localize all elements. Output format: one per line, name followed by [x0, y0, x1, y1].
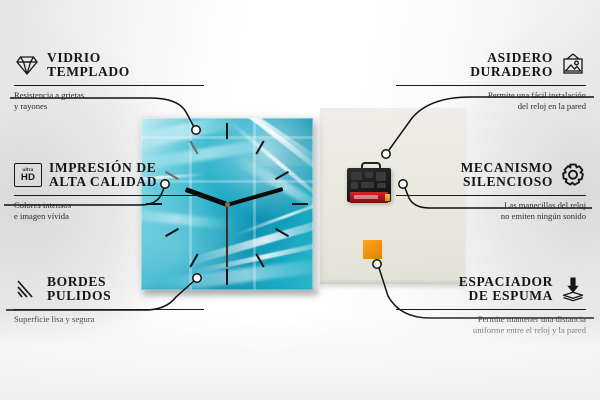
feature-title: BORDES PULIDOS [47, 275, 111, 304]
feature-desc-line1: Permite mantener una distancia [396, 314, 586, 325]
feature-desc-line1: Superficie lisa y segura [14, 314, 204, 325]
second-hand [226, 205, 228, 267]
feature-desc-line2: y rayones [14, 101, 204, 112]
feature-divider [14, 309, 204, 310]
gear-icon [560, 162, 586, 188]
feature-asidero-duradero: ASIDERO DURADERO Permite una fácil insta… [396, 48, 586, 112]
infographic-canvas: VIDRIO TEMPLADO Resistencia a grietas y … [0, 0, 600, 400]
feature-desc-line1: Resistencia a grietas [14, 90, 204, 101]
mechanism-body [347, 168, 391, 202]
feature-espaciador-de-espuma: ESPACIADOR DE ESPUMA Permite mantener un… [396, 272, 586, 336]
feature-header: ASIDERO DURADERO [396, 48, 586, 82]
feature-desc-line2: e imagen vívida [14, 211, 204, 222]
feature-desc-line1: Colores intensos [14, 200, 204, 211]
feature-title: MECANISMO SILENCIOSO [461, 161, 553, 190]
diamond-icon [14, 52, 40, 78]
feature-desc-line1: Permite una fácil instalación [396, 90, 586, 101]
feature-title: ASIDERO DURADERO [470, 51, 553, 80]
feature-desc-line2: del reloj en la pared [396, 101, 586, 112]
feature-divider [396, 85, 586, 86]
feature-divider [14, 195, 204, 196]
feature-header: MECANISMO SILENCIOSO [396, 158, 586, 192]
feature-title: IMPRESIÓN DE ALTA CALIDAD [49, 161, 157, 190]
feature-title: ESPACIADOR DE ESPUMA [459, 275, 553, 304]
feature-mecanismo-silencioso: MECANISMO SILENCIOSO Las manecillas del … [396, 158, 586, 222]
feature-desc-line2: no emiten ningún sonido [396, 211, 586, 222]
wall-frame-icon [560, 52, 586, 78]
feature-header: ESPACIADOR DE ESPUMA [396, 272, 586, 306]
ultra-hd-icon: ultra HD [14, 163, 42, 187]
feature-divider [14, 85, 204, 86]
hands-center-cap [225, 202, 230, 207]
feature-bordes-pulidos: BORDES PULIDOS Superficie lisa y segura [14, 272, 204, 325]
feature-header: VIDRIO TEMPLADO [14, 48, 204, 82]
foam-spacer [363, 240, 382, 259]
feature-header: BORDES PULIDOS [14, 272, 204, 306]
arrow-down-layers-icon [560, 276, 586, 302]
feature-divider [396, 309, 586, 310]
feature-vidrio-templado: VIDRIO TEMPLADO Resistencia a grietas y … [14, 48, 204, 112]
feature-desc-line1: Las manecillas del reloj [396, 200, 586, 211]
clock-mechanism [347, 162, 391, 202]
feature-impresion-alta-calidad: ultra HD IMPRESIÓN DE ALTA CALIDAD Color… [14, 158, 204, 222]
feature-title: VIDRIO TEMPLADO [47, 51, 130, 80]
feature-divider [396, 195, 586, 196]
feature-header: ultra HD IMPRESIÓN DE ALTA CALIDAD [14, 158, 204, 192]
battery [350, 192, 388, 203]
polished-edges-icon [14, 276, 40, 302]
feature-desc-line2: uniforme entre el reloj y la pared [396, 325, 586, 336]
